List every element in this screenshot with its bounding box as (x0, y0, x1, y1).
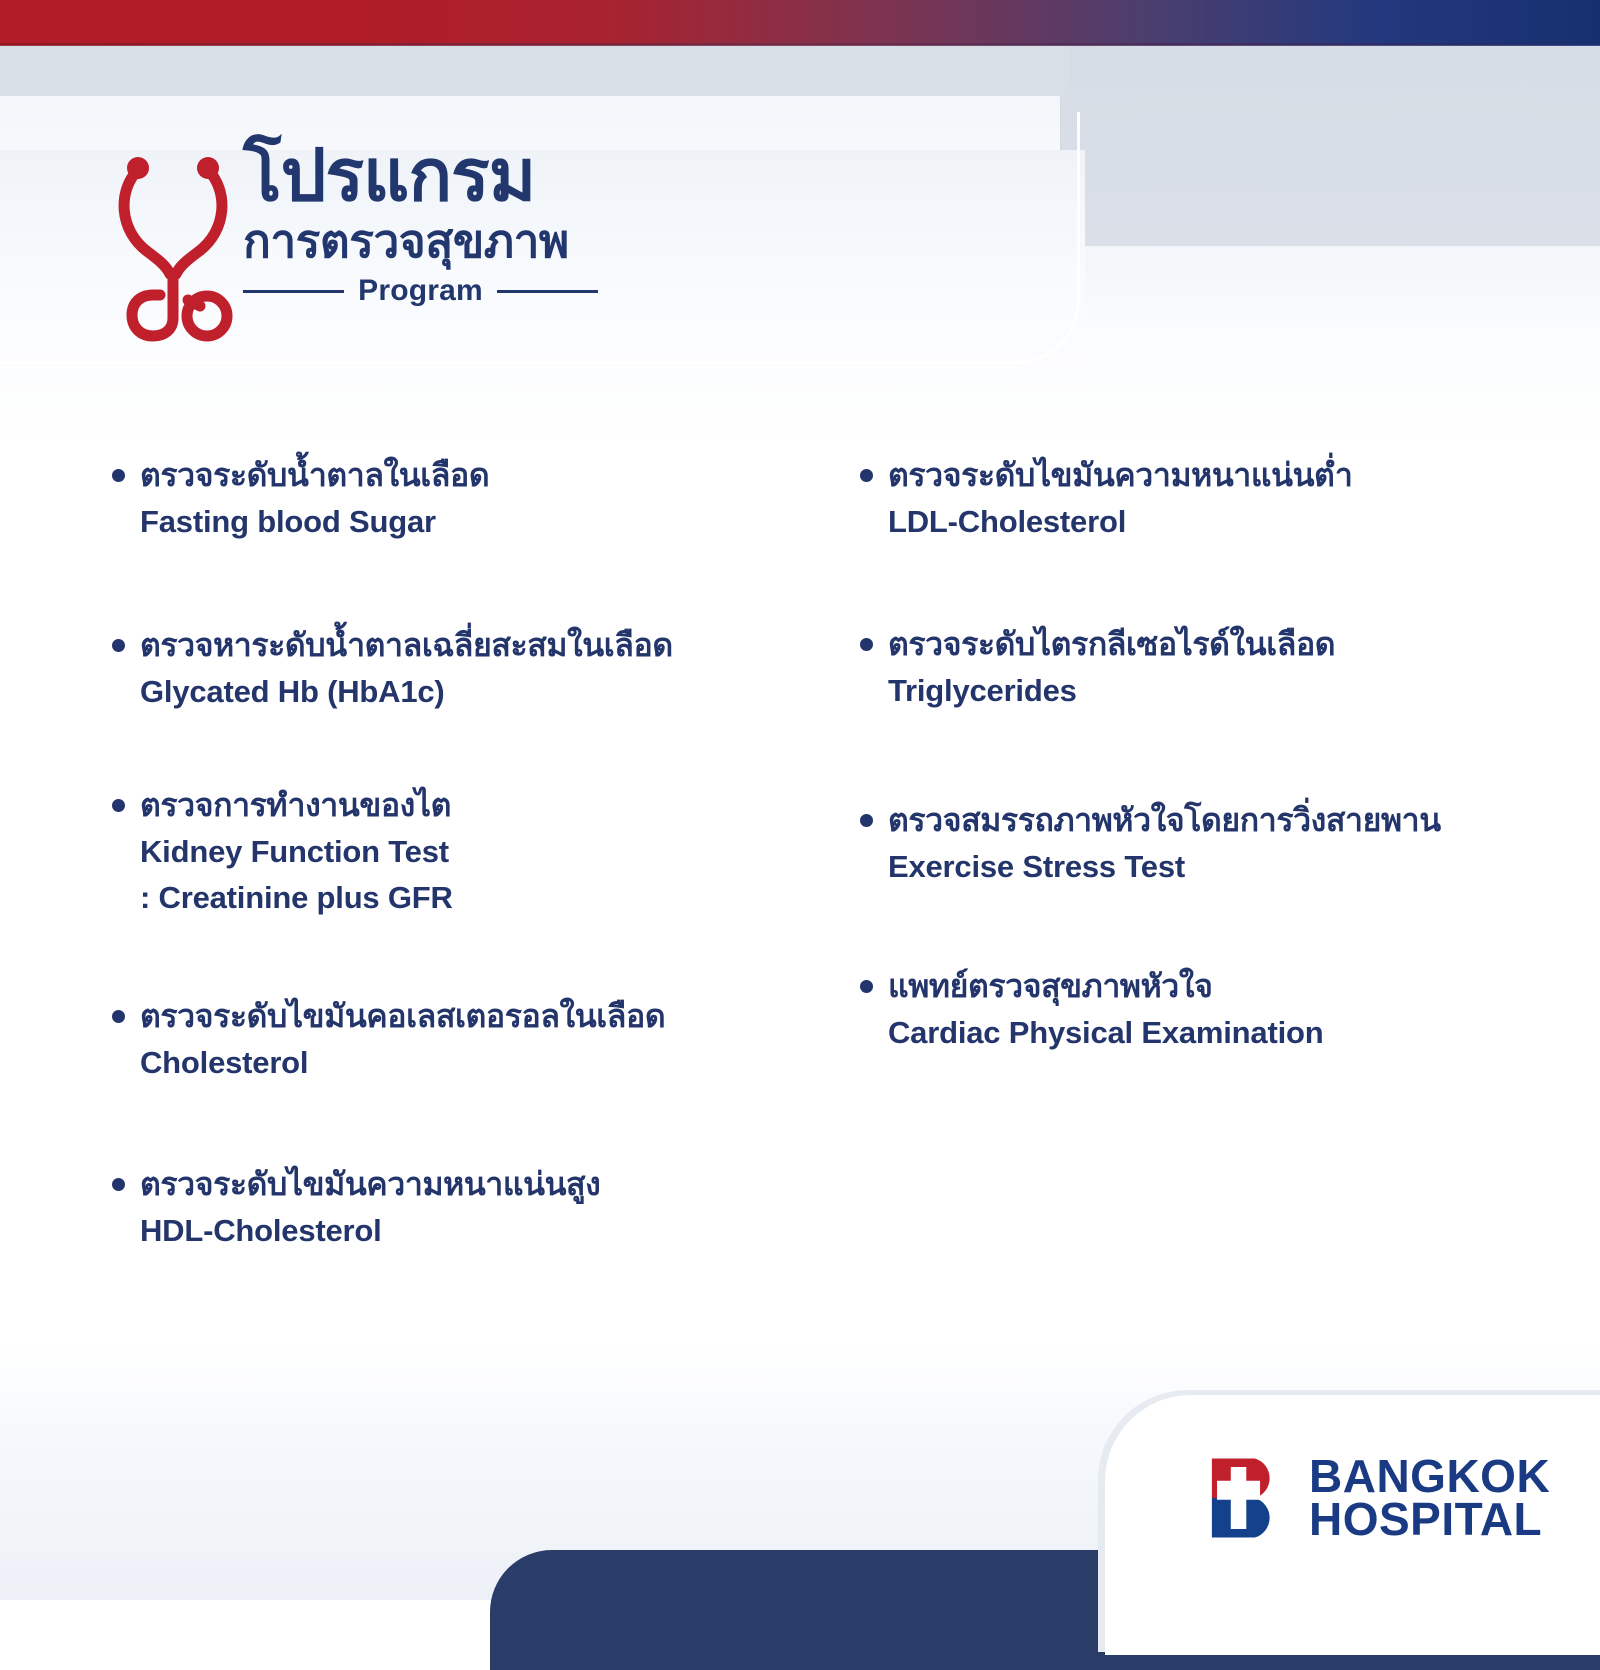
checkup-item-thai: ตรวจระดับไขมันคอเลสเตอรอลในเลือด (140, 993, 810, 1040)
bullet-icon (860, 469, 873, 482)
checkup-item-thai: ตรวจระดับน้ำตาลในเลือด (140, 452, 810, 499)
program-title-thai-primary: โปรแกรม (243, 140, 673, 213)
stethoscope-icon (108, 148, 238, 343)
bullet-icon (112, 799, 125, 812)
checkup-item-thai: แพทย์ตรวจสุขภาพหัวใจ (888, 963, 1558, 1010)
checkup-item-english: Kidney Function Test (140, 829, 810, 875)
bullet-icon (860, 638, 873, 651)
bullet-icon (112, 1010, 125, 1023)
checkup-item-thai: ตรวจระดับไขมันความหนาแน่นสูง (140, 1161, 810, 1208)
checkup-item-english: LDL-Cholesterol (888, 499, 1558, 545)
checkup-item-english: Fasting blood Sugar (140, 499, 810, 545)
checkup-item: ตรวจระดับไตรกลีเซอไรด์ในเลือดTriglycerid… (858, 621, 1558, 714)
checkup-item: ตรวจการทำงานของไตKidney Function Test: C… (110, 782, 810, 920)
bullet-icon (860, 814, 873, 827)
checkup-item-thai: ตรวจหาระดับน้ำตาลเฉลี่ยสะสมในเลือด (140, 622, 810, 669)
program-title-block: โปรแกรม การตรวจสุขภาพ Program (243, 140, 673, 308)
rule-left (243, 290, 344, 293)
checkup-item: ตรวจระดับไขมันคอเลสเตอรอลในเลือดCholeste… (110, 993, 810, 1086)
checkup-item-english: Exercise Stress Test (888, 844, 1558, 890)
bullet-icon (112, 469, 125, 482)
checkup-item: ตรวจสมรรถภาพหัวใจโดยการวิ่งสายพานExercis… (858, 797, 1558, 890)
program-title-en: Program (358, 274, 483, 308)
rule-right (497, 290, 598, 293)
checkup-item-english: Triglycerides (888, 668, 1558, 714)
checkup-item-thai: ตรวจสมรรถภาพหัวใจโดยการวิ่งสายพาน (888, 797, 1558, 844)
program-title-rule: Program (243, 274, 598, 308)
checkup-item-thai: ตรวจการทำงานของไต (140, 782, 810, 829)
checkup-item: แพทย์ตรวจสุขภาพหัวใจCardiac Physical Exa… (858, 963, 1558, 1056)
checkup-column-right: ตรวจระดับไขมันความหนาแน่นต่ำLDL-Choleste… (858, 452, 1558, 1055)
checkup-item-english: : Creatinine plus GFR (140, 875, 810, 921)
checkup-item-english: HDL-Cholesterol (140, 1208, 810, 1254)
bangkok-hospital-cross-b-icon (1205, 1455, 1291, 1541)
bangkok-hospital-logo: BANGKOK HOSPITAL (1205, 1455, 1550, 1541)
logo-name-line1: BANGKOK (1309, 1455, 1550, 1498)
checkup-item-thai: ตรวจระดับไตรกลีเซอไรด์ในเลือด (888, 621, 1558, 668)
checkup-item: ตรวจหาระดับน้ำตาลเฉลี่ยสะสมในเลือดGlycat… (110, 622, 810, 715)
bullet-icon (112, 639, 125, 652)
checkup-item-thai: ตรวจระดับไขมันความหนาแน่นต่ำ (888, 452, 1558, 499)
program-header: โปรแกรม การตรวจสุขภาพ Program (0, 140, 700, 360)
checkup-item-english: Cardiac Physical Examination (888, 1010, 1558, 1056)
checkup-item: ตรวจระดับน้ำตาลในเลือดFasting blood Suga… (110, 452, 810, 545)
program-title-thai-secondary: การตรวจสุขภาพ (243, 215, 673, 268)
checkup-item: ตรวจระดับไขมันความหนาแน่นต่ำLDL-Choleste… (858, 452, 1558, 545)
bangkok-hospital-wordmark: BANGKOK HOSPITAL (1309, 1455, 1550, 1541)
checkup-item-english: Cholesterol (140, 1040, 810, 1086)
checkup-item: ตรวจระดับไขมันความหนาแน่นสูงHDL-Choleste… (110, 1161, 810, 1254)
bullet-icon (112, 1178, 125, 1191)
bullet-icon (860, 980, 873, 993)
checkup-item-english: Glycated Hb (HbA1c) (140, 669, 810, 715)
logo-name-line2: HOSPITAL (1309, 1498, 1550, 1541)
checkup-column-left: ตรวจระดับน้ำตาลในเลือดFasting blood Suga… (110, 452, 810, 1254)
